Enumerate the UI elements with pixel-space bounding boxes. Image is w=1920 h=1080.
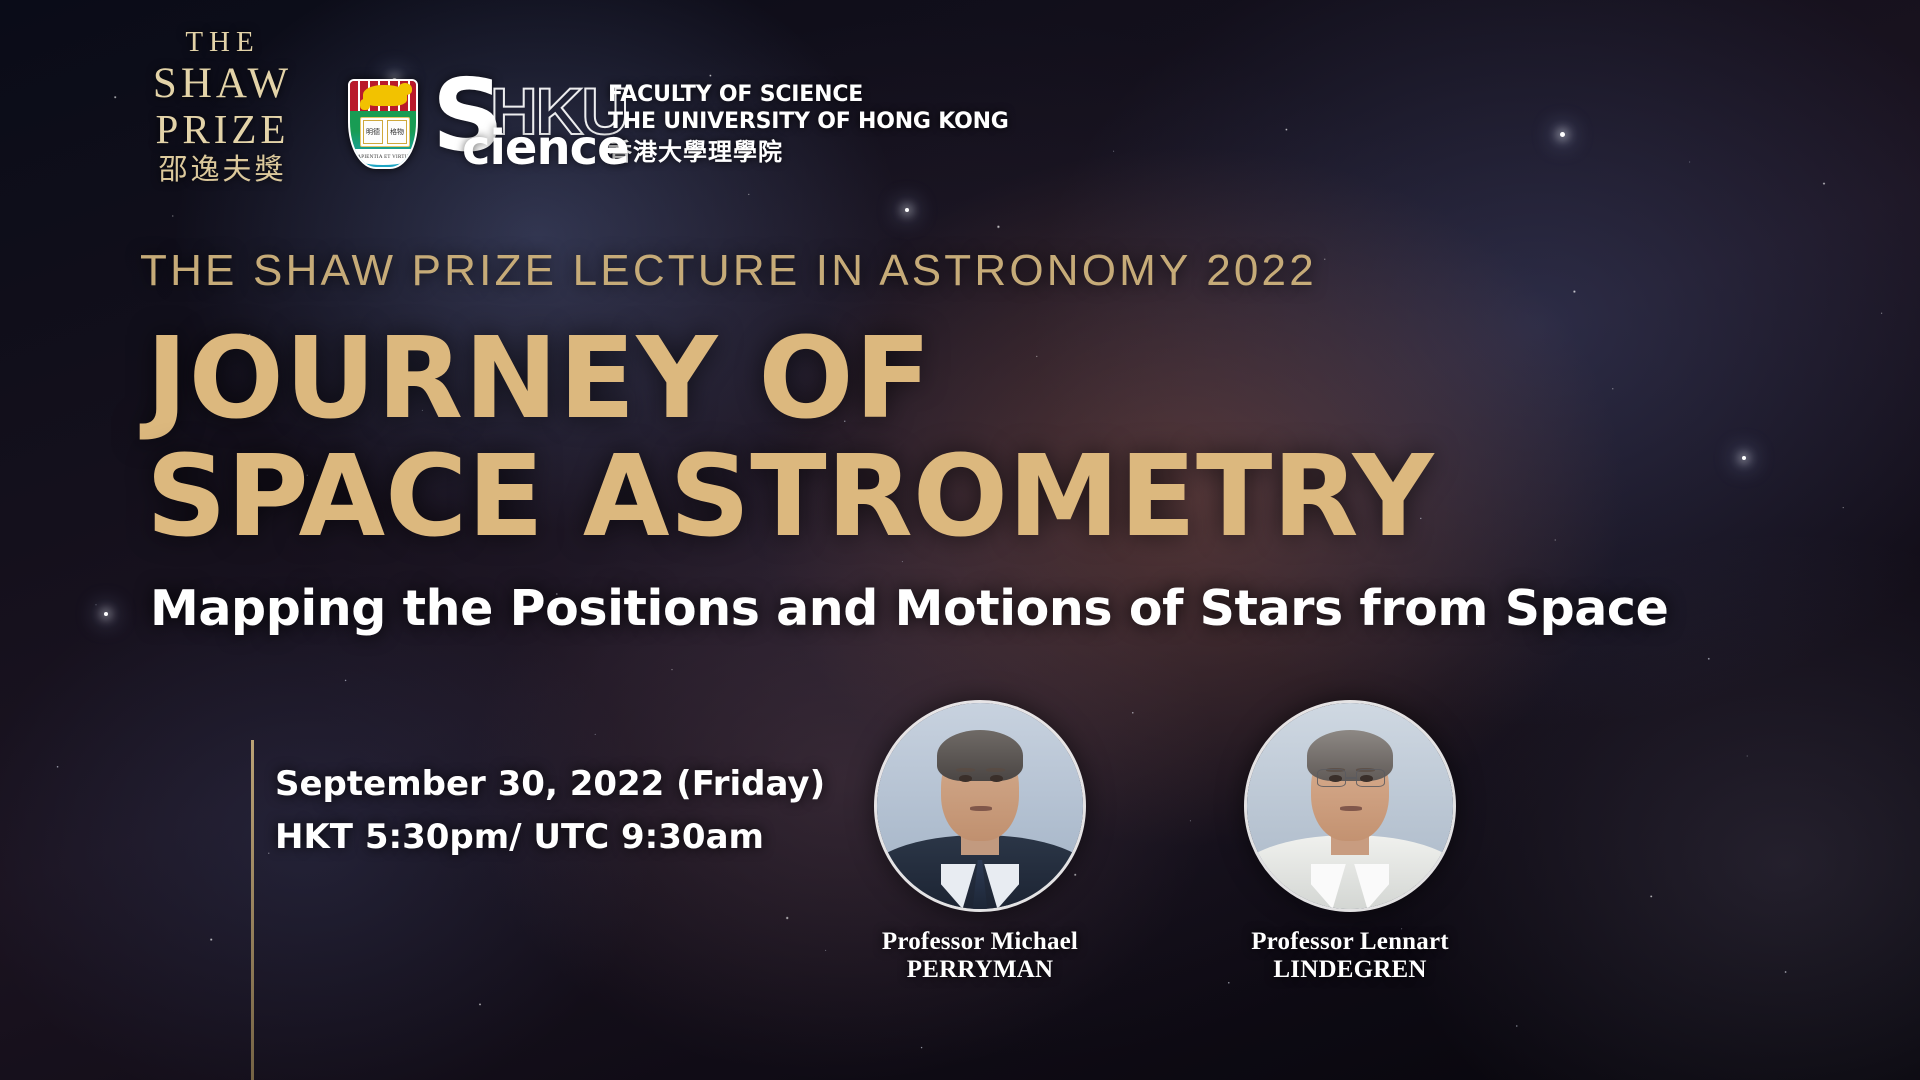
glow-star [104,612,108,616]
crest-motto: SAPIENTIA ET VIRTUS [352,149,414,165]
avatar [1244,700,1456,912]
event-datetime: September 30, 2022 (Friday) HKT 5:30pm/ … [275,758,825,863]
glow-star [905,208,909,212]
glow-star [1742,456,1746,460]
hku-crest-icon: 明德 格物 SAPIENTIA ET VIRTUS [348,79,418,169]
hku-text-block: FACULTY OF SCIENCE THE UNIVERSITY OF HON… [608,82,1009,167]
speaker-name: Professor Lennart LINDEGREN [1200,928,1500,984]
lecture-series-kicker: THE SHAW PRIZE LECTURE IN ASTRONOMY 2022 [140,246,1317,296]
glasses-icon [1317,769,1385,788]
shaw-prize-logo: THE SHAW PRIZE 邵逸夫獎 [130,28,315,184]
event-time: HKT 5:30pm/ UTC 9:30am [275,811,825,864]
page-subtitle: Mapping the Positions and Motions of Sta… [150,580,1668,637]
crest-book-icon: 明德 格物 [360,117,410,147]
crest-lion-icon [363,85,407,106]
avatar [874,700,1086,912]
university-name: THE UNIVERSITY OF HONG KONG [608,109,1009,136]
logo-row: THE SHAW PRIZE 邵逸夫獎 明德 格物 SAPIENTIA ET V… [0,0,1920,200]
shaw-logo-line-prize: PRIZE [130,109,315,150]
title-line-2: SPACE ASTROMETRY [146,440,1434,554]
speaker-name: Professor Michael PERRYMAN [830,928,1130,984]
crest-book-right-text: 格物 [387,120,407,144]
university-name-chinese: 香港大學理學院 [608,138,1009,167]
shaw-logo-line-the: THE [130,28,315,57]
shaw-logo-line-chinese: 邵逸夫獎 [130,155,315,184]
faculty-name: FACULTY OF SCIENCE [608,82,1009,109]
page-title: JOURNEY OF SPACE ASTROMETRY [146,322,1434,554]
crest-book-left-text: 明德 [363,120,383,144]
event-date: September 30, 2022 (Friday) [275,758,825,811]
wordmark-science: cience [462,124,629,172]
speaker-card-perryman: Professor Michael PERRYMAN [830,700,1130,984]
hku-science-logo: 明德 格物 SAPIENTIA ET VIRTUS S HKU cience F… [348,76,1009,169]
lecture-poster: THE SHAW PRIZE 邵逸夫獎 明德 格物 SAPIENTIA ET V… [0,0,1920,1080]
speaker-card-lindegren: Professor Lennart LINDEGREN [1200,700,1500,984]
title-line-1: JOURNEY OF [146,322,1434,436]
shaw-logo-line-shaw: SHAW [130,62,315,105]
date-divider-rule [251,740,254,1080]
